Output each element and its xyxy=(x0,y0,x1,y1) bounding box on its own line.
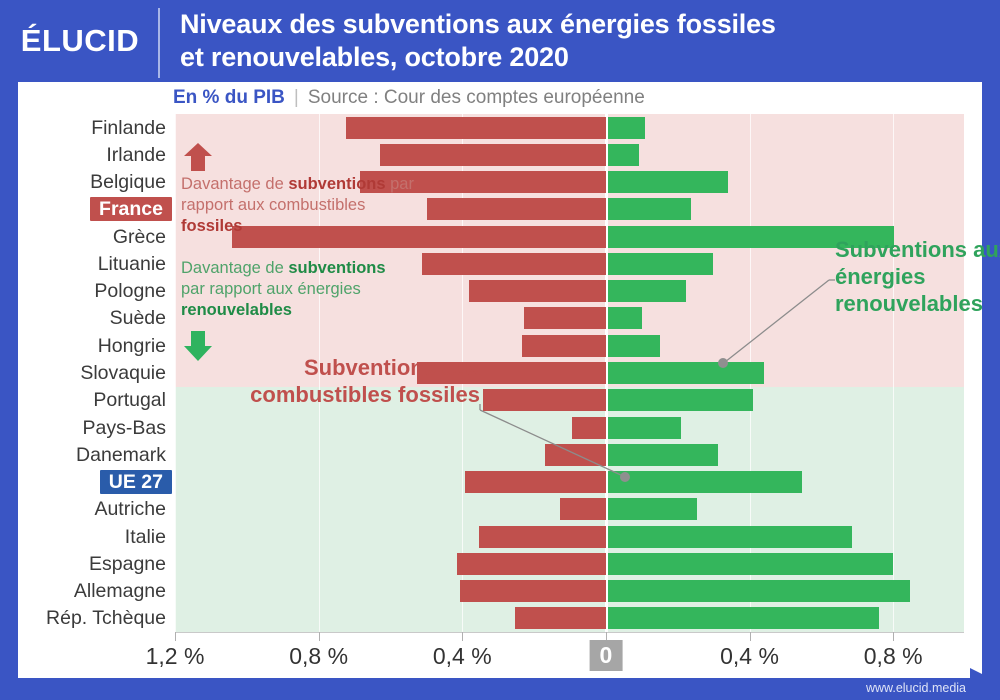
category-label-hongrie: Hongrie xyxy=(98,334,166,358)
axis-tick-label: 1,2 % xyxy=(146,643,205,670)
bar-fossil xyxy=(524,307,606,329)
bar-fossil xyxy=(560,498,606,520)
bar-renewable xyxy=(608,198,691,220)
category-label-r-p-tch-que: Rép. Tchèque xyxy=(46,606,166,630)
page-title: Niveaux des subventions aux énergies fos… xyxy=(160,0,1000,82)
category-label-italie: Italie xyxy=(125,525,166,549)
footer-url: www.elucid.media xyxy=(866,681,966,695)
category-label-pays-bas: Pays-Bas xyxy=(83,416,166,440)
subhead-divider: | xyxy=(294,87,299,109)
bar-fossil xyxy=(457,553,606,575)
bar-renewable xyxy=(608,117,645,139)
unit-label: En % du PIB xyxy=(173,87,285,109)
brand-logo: ÉLUCID xyxy=(0,0,160,82)
bar-renewable xyxy=(608,526,852,548)
bar-renewable xyxy=(608,171,728,193)
annot-green-line3: renouvelables xyxy=(181,301,292,319)
arrow-up-icon xyxy=(183,142,213,172)
category-label-espagne: Espagne xyxy=(89,552,166,576)
bar-fossil xyxy=(346,117,606,139)
category-label-gr-ce: Grèce xyxy=(113,225,166,249)
category-label-belgique: Belgique xyxy=(90,170,166,194)
title-line-2: et renouvelables, octobre 2020 xyxy=(180,41,1000,74)
bar-renewable xyxy=(608,607,879,629)
bar-fossil xyxy=(380,144,606,166)
arrow-down-icon xyxy=(183,330,213,362)
category-label-slovaquie: Slovaquie xyxy=(80,361,166,385)
bar-renewable xyxy=(608,144,639,166)
logo-divider xyxy=(158,8,160,78)
footer-arrow-icon xyxy=(970,668,996,694)
bar-fossil xyxy=(515,607,606,629)
leader-line-fossil xyxy=(475,404,645,484)
category-label-ue-27: UE 27 xyxy=(100,470,172,494)
axis-tick xyxy=(893,632,894,641)
plot-wrapper: FinlandeIrlandeBelgiqueFranceGrèceLituan… xyxy=(18,114,982,632)
category-label-lituanie: Lituanie xyxy=(98,252,166,276)
bar-renewable xyxy=(608,553,893,575)
category-label-autriche: Autriche xyxy=(94,497,166,521)
axis-tick xyxy=(319,632,320,641)
annot-red-line3: fossiles xyxy=(181,217,242,235)
annot-red-text-c: par xyxy=(386,175,414,193)
chart-card: En % du PIB | Source : Cour des comptes … xyxy=(18,82,982,678)
annot-green-text-a: Davantage de xyxy=(181,259,288,277)
gridline xyxy=(893,114,894,632)
title-line-1: Niveaux des subventions aux énergies fos… xyxy=(180,8,1000,41)
logo-text: ÉLUCID xyxy=(21,23,139,59)
bar-renewable xyxy=(608,307,642,329)
annot-red-text-b: subventions xyxy=(288,175,385,193)
bar-fossil xyxy=(479,526,606,548)
x-axis: 1,2 %0,8 %0,4 %00,4 %0,8 % xyxy=(175,632,982,682)
axis-tick-label: 0,8 % xyxy=(289,643,348,670)
category-label-pologne: Pologne xyxy=(94,279,166,303)
bar-renewable xyxy=(608,280,686,302)
bar-renewable xyxy=(608,498,698,520)
page-header: ÉLUCID Niveaux des subventions aux énerg… xyxy=(0,0,1000,82)
axis-tick xyxy=(175,632,176,641)
leader-line-renewable xyxy=(715,280,845,370)
category-label-irlande: Irlande xyxy=(106,143,166,167)
category-label-su-de: Suède xyxy=(110,306,166,330)
axis-tick-label: 0,8 % xyxy=(864,643,923,670)
legend-fossil: Subventions aux combustibles fossiles xyxy=(210,354,480,408)
category-label-danemark: Danemark xyxy=(76,443,166,467)
bar-renewable xyxy=(608,253,713,275)
annot-green-text-b: subventions xyxy=(288,259,385,277)
legend-renewable: Subventions aux énergies renouvelables xyxy=(835,236,1000,317)
axis-tick-label: 0,4 % xyxy=(720,643,779,670)
axis-tick xyxy=(750,632,751,641)
axis-line xyxy=(175,632,964,633)
annot-red-line2: rapport aux combustibles xyxy=(181,196,365,214)
page-footer: www.elucid.media xyxy=(0,678,1000,700)
category-label-france: France xyxy=(90,197,172,221)
bar-renewable xyxy=(608,580,911,602)
annot-green-line2: par rapport aux énergies xyxy=(181,280,361,298)
bar-fossil xyxy=(522,335,606,357)
annotation-fossil-more: Davantage de subventions par rapport aux… xyxy=(181,174,511,237)
annotation-renewable-more: Davantage de subventions par rapport aux… xyxy=(181,258,491,321)
category-label-portugal: Portugal xyxy=(93,388,166,412)
category-labels: FinlandeIrlandeBelgiqueFranceGrèceLituan… xyxy=(18,114,175,632)
axis-tick xyxy=(462,632,463,641)
source-label: Source : Cour des comptes européenne xyxy=(308,87,645,109)
axis-tick-label: 0,4 % xyxy=(433,643,492,670)
gridline xyxy=(175,114,176,632)
chart-subheader: En % du PIB | Source : Cour des comptes … xyxy=(18,82,982,114)
bar-fossil xyxy=(460,580,606,602)
plot-area: Davantage de subventions par rapport aux… xyxy=(175,114,982,632)
axis-tick-label: 0 xyxy=(590,640,623,671)
annot-red-text-a: Davantage de xyxy=(181,175,288,193)
category-label-allemagne: Allemagne xyxy=(74,579,166,603)
bar-renewable xyxy=(608,335,661,357)
category-label-finlande: Finlande xyxy=(91,116,166,140)
